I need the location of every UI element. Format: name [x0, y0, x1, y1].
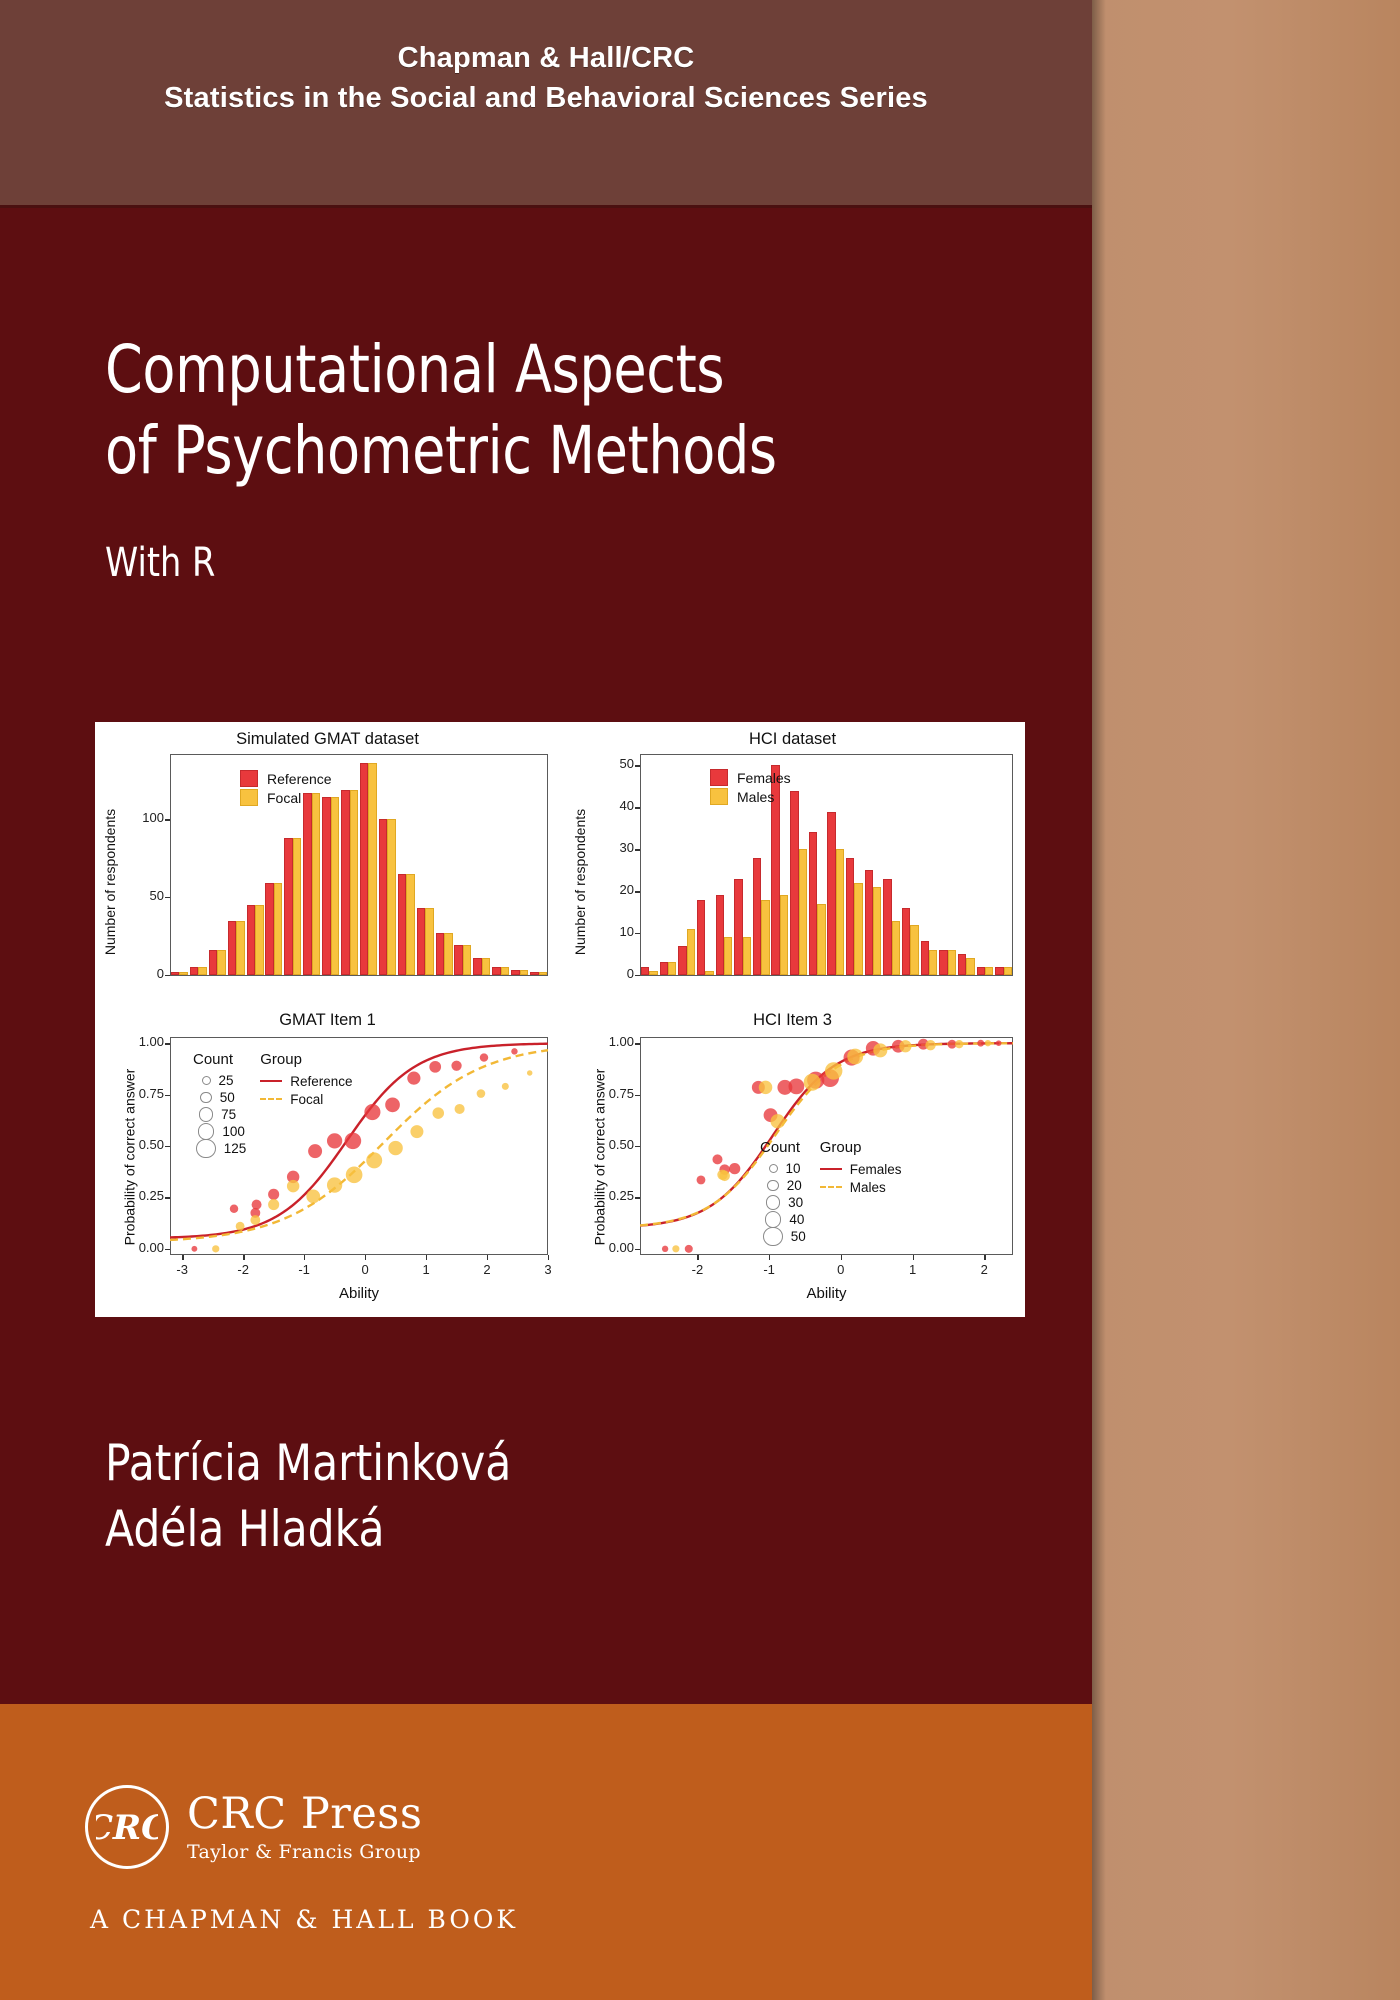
- histogram-bar: [716, 895, 724, 975]
- legend-gmat-item: Count 255075100125 Group Reference Focal: [193, 1051, 353, 1157]
- data-point: [527, 1070, 532, 1075]
- histogram-bar: [929, 950, 937, 975]
- data-point: [388, 1141, 402, 1155]
- data-point: [410, 1125, 423, 1138]
- histogram-bar: [501, 967, 510, 975]
- histogram-bar: [492, 967, 501, 975]
- legend-line-females: [820, 1168, 842, 1170]
- legend-count-row: 125: [193, 1140, 246, 1157]
- authors: Patrícia Martinková Adéla Hladká: [105, 1430, 511, 1562]
- figure-grid: Simulated GMAT dataset Number of respond…: [95, 722, 1025, 1317]
- chart-title-gmat-hist: Simulated GMAT dataset: [95, 730, 560, 749]
- histogram-bar: [293, 838, 302, 975]
- legend-count-bubble-icon: [196, 1139, 215, 1158]
- histogram-bar: [836, 849, 844, 975]
- x-tick-label: 2: [467, 1262, 507, 1277]
- legend-count-row: 75: [193, 1106, 246, 1123]
- histogram-bar: [406, 874, 415, 975]
- data-point: [847, 1049, 863, 1065]
- y-axis-label-gmat-item: Probability of correct answer: [122, 1045, 138, 1270]
- legend-label-reference: Reference: [267, 771, 332, 787]
- legend-item-reference: Reference: [240, 769, 332, 788]
- data-point: [306, 1189, 320, 1203]
- data-point: [788, 1078, 804, 1094]
- x-tick-mark: [913, 1255, 914, 1260]
- chart-gmat-item-1: GMAT Item 1 Probability of correct answe…: [95, 1009, 560, 1317]
- data-point: [712, 1154, 722, 1164]
- subtitle: With R: [105, 540, 215, 586]
- legend-swatch-females: [710, 769, 728, 786]
- y-tick-mark: [635, 1095, 640, 1096]
- legend-group-reference: Reference: [260, 1072, 352, 1090]
- legend-count-column-gmat: Count 255075100125: [193, 1051, 246, 1157]
- histogram-bar: [436, 933, 445, 975]
- histogram-bar: [341, 790, 350, 975]
- data-point: [346, 1166, 363, 1183]
- histogram-bar: [190, 967, 199, 975]
- legend-count-value: 125: [224, 1141, 247, 1156]
- histogram-bar: [171, 972, 180, 975]
- y-tick-mark: [635, 849, 640, 850]
- legend-count-row: 20: [760, 1177, 806, 1194]
- histogram-bar: [854, 883, 862, 975]
- histogram-bar: [910, 925, 918, 975]
- x-tick-mark: [841, 1255, 842, 1260]
- y-tick-label: 0.25: [123, 1188, 164, 1203]
- legend-count-bubble-icon: [769, 1164, 778, 1173]
- histogram-bar: [817, 904, 825, 975]
- data-point: [407, 1072, 420, 1085]
- x-tick-mark: [426, 1255, 427, 1260]
- data-point: [451, 1061, 461, 1071]
- legend-count-row: 100: [193, 1123, 246, 1140]
- data-point: [250, 1215, 260, 1225]
- x-tick-mark: [769, 1255, 770, 1260]
- x-tick-label: -3: [162, 1262, 202, 1277]
- histogram-bar: [966, 958, 974, 975]
- data-point: [996, 1040, 1002, 1046]
- histogram-bar: [921, 941, 929, 975]
- histogram-bar: [255, 905, 264, 975]
- y-tick-mark: [165, 1249, 170, 1250]
- histogram-bar: [360, 763, 369, 975]
- legend-count-bubble-icon: [766, 1195, 780, 1209]
- legend-group-header-gmat: Group: [260, 1051, 352, 1068]
- legend-group-column-hci: Group Females Males: [820, 1139, 902, 1245]
- legend-count-row: 10: [760, 1160, 806, 1177]
- author-name-1: Patrícia Martinková: [105, 1430, 511, 1496]
- histogram-bar: [217, 950, 226, 975]
- chapman-hall-tagline: A CHAPMAN & HALL BOOK: [90, 1905, 518, 1934]
- legend-hci-hist: Females Males: [710, 768, 791, 806]
- histogram-bar: [265, 883, 274, 975]
- histogram-bar: [444, 933, 453, 975]
- x-tick-mark: [182, 1255, 183, 1260]
- data-point: [364, 1104, 380, 1120]
- data-point: [873, 1043, 887, 1057]
- publisher-names: CRC Press Taylor & Francis Group: [187, 1793, 422, 1862]
- histogram-bar: [247, 905, 256, 975]
- svg-text:CRC: CRC: [96, 1808, 158, 1848]
- histogram-bar: [799, 849, 807, 975]
- data-point: [672, 1245, 679, 1252]
- legend-count-column-hci: Count 1020304050: [760, 1139, 806, 1245]
- y-tick-label: 0.75: [123, 1086, 164, 1101]
- x-tick-label: 0: [345, 1262, 385, 1277]
- y-tick-mark: [165, 975, 170, 976]
- legend-count-bubble-icon: [202, 1076, 211, 1085]
- x-tick-label: -2: [223, 1262, 263, 1277]
- histogram-bar: [761, 900, 769, 975]
- y-axis-label-gmat-hist: Number of respondents: [102, 792, 118, 972]
- y-tick-mark: [635, 933, 640, 934]
- histogram-bar: [482, 958, 491, 975]
- y-tick-label: 0: [598, 966, 634, 981]
- legend-group-focal: Focal: [260, 1090, 352, 1108]
- y-tick-mark: [165, 1197, 170, 1198]
- y-tick-mark: [635, 765, 640, 766]
- data-point: [502, 1083, 509, 1090]
- y-axis-label-hci-hist: Number of respondents: [572, 792, 588, 972]
- legend-count-header-gmat: Count: [193, 1051, 246, 1068]
- histogram-bar: [209, 950, 218, 975]
- histogram-bar: [322, 797, 331, 975]
- legend-hci-item: Count 1020304050 Group Females Males: [760, 1139, 901, 1245]
- histogram-bar: [902, 908, 910, 975]
- legend-item-focal: Focal: [240, 788, 332, 807]
- legend-count-value: 50: [791, 1229, 806, 1244]
- legend-swatch-reference: [240, 770, 258, 787]
- x-tick-mark: [548, 1255, 549, 1260]
- histogram-bar: [463, 945, 472, 975]
- histogram-bar: [312, 793, 321, 975]
- histogram-bar: [511, 970, 520, 975]
- histogram-bar: [743, 937, 751, 975]
- legend-line-focal: [260, 1098, 282, 1100]
- legend-count-value: 20: [787, 1178, 802, 1193]
- y-tick-label: 100: [128, 810, 164, 825]
- chart-title-hci-item: HCI Item 3: [560, 1011, 1025, 1030]
- data-point: [899, 1040, 911, 1052]
- y-tick-mark: [165, 819, 170, 820]
- legend-line-males: [820, 1186, 842, 1188]
- data-point: [771, 1114, 785, 1128]
- data-point: [825, 1062, 842, 1079]
- legend-grouplabel-focal: Focal: [290, 1092, 323, 1107]
- x-axis-label-gmat-item: Ability: [170, 1285, 548, 1302]
- histogram-bar: [827, 812, 835, 976]
- series-name-line: Statistics in the Social and Behavioral …: [0, 82, 1092, 115]
- histogram-bar: [734, 879, 742, 975]
- legend-count-row: 40: [760, 1211, 806, 1228]
- y-tick-label: 0.00: [593, 1240, 634, 1255]
- y-tick-label: 1.00: [123, 1034, 164, 1049]
- data-point: [480, 1053, 488, 1061]
- y-tick-mark: [635, 807, 640, 808]
- histogram-bar: [892, 921, 900, 976]
- histogram-bar: [228, 921, 237, 976]
- y-tick-mark: [165, 1095, 170, 1096]
- data-point: [477, 1089, 486, 1098]
- y-tick-label: 0.75: [593, 1086, 634, 1101]
- x-tick-mark: [487, 1255, 488, 1260]
- x-tick-mark: [304, 1255, 305, 1260]
- histogram-bar: [809, 832, 817, 975]
- legend-gmat-hist: Reference Focal: [240, 769, 332, 807]
- y-tick-mark: [635, 1197, 640, 1198]
- legend-label-males: Males: [737, 789, 774, 805]
- legend-count-rows-gmat: 255075100125: [193, 1072, 246, 1157]
- histogram-bar: [417, 908, 426, 975]
- histogram-bar: [1004, 967, 1012, 975]
- chart-title-gmat-item: GMAT Item 1: [95, 1011, 560, 1030]
- x-tick-label: -1: [749, 1262, 789, 1277]
- legend-group-header-hci: Group: [820, 1139, 902, 1156]
- data-point: [212, 1245, 219, 1252]
- publisher-imprint: Taylor & Francis Group: [187, 1843, 422, 1862]
- histogram-bar: [274, 883, 283, 975]
- y-axis-label-hci-item: Probability of correct answer: [592, 1045, 608, 1270]
- histogram-bar: [753, 858, 761, 975]
- histogram-bar: [454, 945, 463, 975]
- legend-item-females: Females: [710, 768, 791, 787]
- histogram-bar: [977, 967, 985, 975]
- histogram-bar: [865, 870, 873, 975]
- legend-grouplabel-males: Males: [850, 1180, 886, 1195]
- legend-count-bubble-icon: [763, 1227, 782, 1246]
- legend-line-reference: [260, 1080, 282, 1082]
- data-point: [268, 1189, 279, 1200]
- crc-monogram-icon: CRC: [85, 1785, 169, 1869]
- data-point: [287, 1180, 299, 1192]
- legend-group-males: Males: [820, 1178, 902, 1196]
- legend-count-row: 30: [760, 1194, 806, 1211]
- legend-count-row: 50: [760, 1228, 806, 1245]
- legend-count-bubble-icon: [765, 1211, 782, 1228]
- histogram-bar: [705, 971, 713, 975]
- legend-count-value: 50: [220, 1090, 235, 1105]
- histogram-bar: [236, 921, 245, 976]
- data-point: [925, 1040, 935, 1050]
- y-tick-mark: [165, 1043, 170, 1044]
- spine-shadow: [1092, 0, 1106, 2000]
- data-point: [511, 1048, 517, 1054]
- histogram-bar: [473, 958, 482, 975]
- chart-gmat-histogram: Simulated GMAT dataset Number of respond…: [95, 724, 560, 1009]
- publisher-logo: CRC CRC Press Taylor & Francis Group: [85, 1785, 422, 1869]
- legend-group-females: Females: [820, 1160, 902, 1178]
- x-tick-label: 2: [964, 1262, 1004, 1277]
- y-tick-mark: [165, 1146, 170, 1147]
- legend-grouplabel-reference: Reference: [290, 1074, 352, 1089]
- y-tick-mark: [165, 897, 170, 898]
- chart-hci-histogram: HCI dataset Number of respondents 010203…: [560, 724, 1025, 1009]
- legend-swatch-males: [710, 788, 728, 805]
- histogram-bar: [780, 895, 788, 975]
- legend-grouplabel-females: Females: [850, 1162, 902, 1177]
- x-tick-mark: [243, 1255, 244, 1260]
- legend-count-value: 75: [221, 1107, 236, 1122]
- histogram-bar: [883, 879, 891, 975]
- legend-swatch-focal: [240, 789, 258, 806]
- data-point: [955, 1040, 963, 1048]
- data-point: [729, 1163, 740, 1174]
- legend-count-value: 40: [789, 1212, 804, 1227]
- histogram-bar: [179, 972, 188, 975]
- legend-count-bubble-icon: [198, 1123, 215, 1140]
- histogram-bar: [198, 967, 207, 975]
- cover-spine-strip: [1092, 0, 1400, 2000]
- histogram-bar: [530, 972, 539, 975]
- y-tick-label: 20: [598, 882, 634, 897]
- legend-count-bubble-icon: [199, 1107, 213, 1121]
- y-tick-mark: [635, 1146, 640, 1147]
- y-tick-mark: [635, 975, 640, 976]
- data-point: [236, 1222, 245, 1231]
- legend-count-row: 50: [193, 1089, 246, 1106]
- x-tick-label: 1: [893, 1262, 933, 1277]
- y-tick-label: 0: [128, 966, 164, 981]
- histogram-bar: [520, 970, 529, 975]
- histogram-bar: [398, 874, 407, 975]
- x-tick-label: 0: [821, 1262, 861, 1277]
- legend-count-header-hci: Count: [760, 1139, 806, 1156]
- histogram-bar: [303, 793, 312, 975]
- histogram-bar: [724, 937, 732, 975]
- histogram-bar: [939, 950, 947, 975]
- histogram-bar: [368, 763, 377, 975]
- histogram-bar: [678, 946, 686, 975]
- histogram-bar: [948, 950, 956, 975]
- x-axis-label-hci-item: Ability: [640, 1285, 1013, 1302]
- cover-figure-panel: Simulated GMAT dataset Number of respond…: [95, 722, 1025, 1317]
- y-tick-label: 0.00: [123, 1240, 164, 1255]
- histogram-bar: [649, 971, 657, 975]
- chart-title-hci-hist: HCI dataset: [560, 730, 1025, 749]
- histogram-bar: [350, 790, 359, 975]
- data-point: [455, 1104, 465, 1114]
- data-point: [985, 1040, 991, 1046]
- legend-count-value: 25: [219, 1073, 234, 1088]
- data-point: [697, 1175, 706, 1184]
- histogram-bar: [873, 887, 881, 975]
- legend-count-value: 10: [786, 1161, 801, 1176]
- data-point: [268, 1199, 279, 1210]
- x-tick-mark: [697, 1255, 698, 1260]
- data-point: [685, 1245, 693, 1253]
- data-point: [759, 1081, 773, 1095]
- histogram-bar: [687, 929, 695, 975]
- x-tick-label: -2: [677, 1262, 717, 1277]
- page-title: Computational Aspects of Psychometric Me…: [105, 330, 884, 491]
- histogram-bar: [660, 962, 668, 975]
- data-point: [191, 1246, 197, 1252]
- y-tick-label: 10: [598, 924, 634, 939]
- y-tick-label: 40: [598, 798, 634, 813]
- data-point: [327, 1177, 342, 1192]
- data-point: [433, 1107, 445, 1119]
- y-tick-label: 0.50: [123, 1137, 164, 1152]
- y-tick-label: 0.25: [593, 1188, 634, 1203]
- legend-item-males: Males: [710, 787, 791, 806]
- y-tick-mark: [635, 1043, 640, 1044]
- title-line-2: of Psychometric Methods: [105, 411, 884, 492]
- histogram-bar: [379, 819, 388, 975]
- publisher-name: CRC Press: [187, 1793, 422, 1836]
- x-tick-mark: [365, 1255, 366, 1260]
- data-point: [429, 1061, 441, 1073]
- series-band: Chapman & Hall/CRC Statistics in the Soc…: [0, 0, 1092, 208]
- histogram-bar: [995, 967, 1003, 975]
- data-point: [804, 1074, 821, 1091]
- histogram-bar: [790, 791, 798, 975]
- y-tick-mark: [635, 891, 640, 892]
- histogram-bar: [331, 797, 340, 975]
- histogram-bar: [697, 900, 705, 975]
- legend-count-row: 25: [193, 1072, 246, 1089]
- y-tick-label: 1.00: [593, 1034, 634, 1049]
- legend-count-value: 100: [222, 1124, 245, 1139]
- legend-count-bubble-icon: [767, 1180, 779, 1192]
- legend-count-bubble-icon: [200, 1092, 212, 1104]
- title-line-1: Computational Aspects: [105, 330, 884, 411]
- histogram-bar: [958, 954, 966, 975]
- histogram-bar: [425, 908, 434, 975]
- legend-count-rows-hci: 1020304050: [760, 1160, 806, 1245]
- data-point: [385, 1098, 400, 1113]
- data-point: [252, 1200, 262, 1210]
- y-tick-label: 30: [598, 840, 634, 855]
- legend-label-focal: Focal: [267, 790, 301, 806]
- y-tick-mark: [635, 1249, 640, 1250]
- histogram-bar: [284, 838, 293, 975]
- x-tick-label: 1: [406, 1262, 446, 1277]
- histogram-bar: [668, 962, 676, 975]
- book-cover: Chapman & Hall/CRC Statistics in the Soc…: [0, 0, 1400, 2000]
- y-tick-label: 0.50: [593, 1137, 634, 1152]
- data-point: [662, 1246, 668, 1252]
- series-publisher-line: Chapman & Hall/CRC: [0, 42, 1092, 75]
- histogram-bar: [387, 819, 396, 975]
- x-tick-label: -1: [284, 1262, 324, 1277]
- legend-group-column-gmat: Group Reference Focal: [260, 1051, 352, 1157]
- histogram-bar: [539, 972, 548, 975]
- legend-count-value: 30: [788, 1195, 803, 1210]
- author-name-2: Adéla Hladká: [105, 1496, 511, 1562]
- data-point: [366, 1152, 382, 1168]
- y-tick-label: 50: [128, 888, 164, 903]
- chart-hci-item-3: HCI Item 3 Probability of correct answer…: [560, 1009, 1025, 1317]
- x-tick-mark: [984, 1255, 985, 1260]
- histogram-bar: [641, 967, 649, 975]
- data-point: [230, 1205, 238, 1213]
- data-point: [977, 1040, 984, 1047]
- data-point: [719, 1171, 730, 1182]
- y-tick-label: 50: [598, 756, 634, 771]
- legend-label-females: Females: [737, 770, 791, 786]
- histogram-bar: [985, 967, 993, 975]
- histogram-bar: [846, 858, 854, 975]
